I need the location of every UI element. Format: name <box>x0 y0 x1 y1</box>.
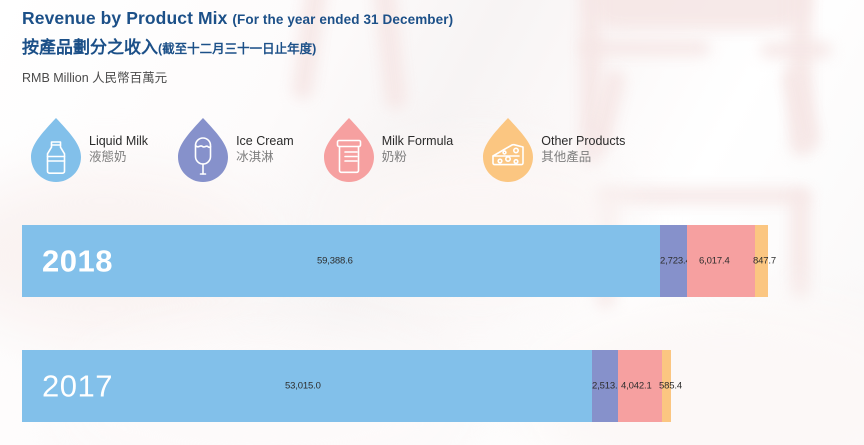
bar-row-2017: 53,015.02,513.14,042.1585.42017 <box>22 350 768 422</box>
cheese-icon <box>479 116 537 182</box>
page-title: Revenue by Product Mix (For the year end… <box>22 8 453 29</box>
legend-item-liquid-milk[interactable]: Liquid Milk 液態奶 <box>27 116 148 182</box>
bar-segment-value: 4,042.1 <box>621 381 652 392</box>
watermark-shape <box>596 188 810 204</box>
chart-legend: Liquid Milk 液態奶 Ice Cream 冰淇淋 <box>27 116 625 182</box>
title-cn-main: 按產品劃分之收入 <box>22 38 158 57</box>
legend-label-other-products: Other Products 其他產品 <box>541 133 625 166</box>
title-en-main: Revenue by Product Mix <box>22 8 227 28</box>
bar-segment-value: 847.7 <box>753 256 776 267</box>
page-title-chinese: 按產品劃分之收入(截至十二月三十一日止年度) <box>22 33 453 58</box>
bar-segment-value: 53,015.0 <box>285 381 321 392</box>
legend-item-other-products[interactable]: Other Products 其他產品 <box>479 116 625 182</box>
bar-year-label: 2017 <box>42 371 113 402</box>
bar-segment[interactable]: 585.4 <box>662 350 671 422</box>
watermark-shape <box>780 65 822 152</box>
bar-segment-value: 6,017.4 <box>699 256 730 267</box>
watermark-shape <box>790 0 812 156</box>
milk-formula-icon <box>320 116 378 182</box>
milk-bottle-icon <box>27 116 85 182</box>
bar-year-label: 2018 <box>42 246 113 277</box>
bar-segment[interactable]: 59,388.6 <box>22 225 660 297</box>
legend-label-milk-formula: Milk Formula 奶粉 <box>382 133 454 166</box>
bar-segment[interactable]: 2,723.4 <box>660 225 687 297</box>
legend-label-ice-cream: Ice Cream 冰淇淋 <box>236 133 294 166</box>
watermark-shape <box>580 40 710 56</box>
legend-item-milk-formula[interactable]: Milk Formula 奶粉 <box>320 116 454 182</box>
chart-header: Revenue by Product Mix (For the year end… <box>22 8 453 86</box>
bar-row-2018: 59,388.62,723.46,017.4847.72018 <box>22 225 768 297</box>
ice-cream-icon <box>174 116 232 182</box>
bar-segment[interactable]: 2,513.1 <box>592 350 618 422</box>
title-en-sub: (For the year ended 31 December) <box>232 12 453 27</box>
bar-segment-value: 59,388.6 <box>317 256 353 267</box>
bar-segment[interactable]: 847.7 <box>755 225 768 297</box>
unit-label: RMB Million 人民幣百萬元 <box>22 67 453 86</box>
title-cn-sub: (截至十二月三十一日止年度) <box>158 42 316 56</box>
bar-segment-value: 585.4 <box>659 381 682 392</box>
watermark-shape <box>790 190 810 300</box>
legend-label-liquid-milk: Liquid Milk 液態奶 <box>89 133 148 166</box>
watermark-shape <box>760 42 832 58</box>
watermark-shape <box>588 0 810 30</box>
legend-item-ice-cream[interactable]: Ice Cream 冰淇淋 <box>174 116 294 182</box>
stacked-bar-chart: 59,388.62,723.46,017.4847.7201853,015.02… <box>22 225 768 422</box>
bar-segment[interactable]: 4,042.1 <box>618 350 662 422</box>
bar-segment[interactable]: 6,017.4 <box>687 225 755 297</box>
